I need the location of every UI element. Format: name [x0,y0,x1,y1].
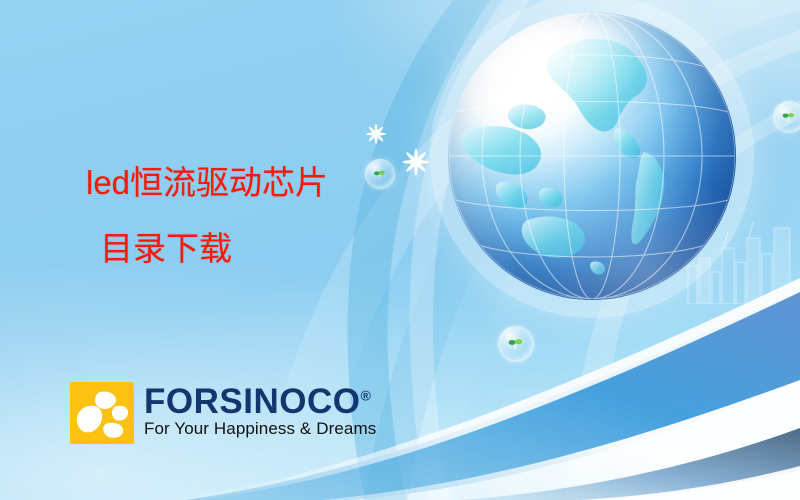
green-sprout-icon [505,335,527,354]
registered-trademark-icon: ® [360,387,371,403]
logo-wordmark: FORSINOCO® For Your Happiness & Dreams [144,384,376,439]
globe-highlight [448,12,736,300]
city-skyline-icon [680,214,800,304]
bubble-right [773,101,800,133]
starburst-upper-icon [364,122,388,146]
poster-canvas: led恒流驱动芯片 目录下载 FORSINOCO® For Your Happi… [0,0,800,500]
green-sprout-icon [371,166,389,182]
starburst-lower-icon [400,146,432,178]
bubble-center [498,326,534,362]
bubble-left [365,159,395,189]
globe-halo [430,0,754,318]
four-petal-flower-icon [70,382,134,444]
headline-line-2: 目录下载 [100,232,232,265]
globe-icon [448,12,736,300]
brand-tagline: For Your Happiness & Dreams [144,420,376,439]
brand-name-text: FORSINOCO [144,382,360,421]
headline-line-1: led恒流驱动芯片 [86,166,328,199]
company-logo: FORSINOCO® For Your Happiness & Dreams [70,382,376,444]
brand-name: FORSINOCO® [144,384,371,419]
green-sprout-icon [779,109,798,126]
